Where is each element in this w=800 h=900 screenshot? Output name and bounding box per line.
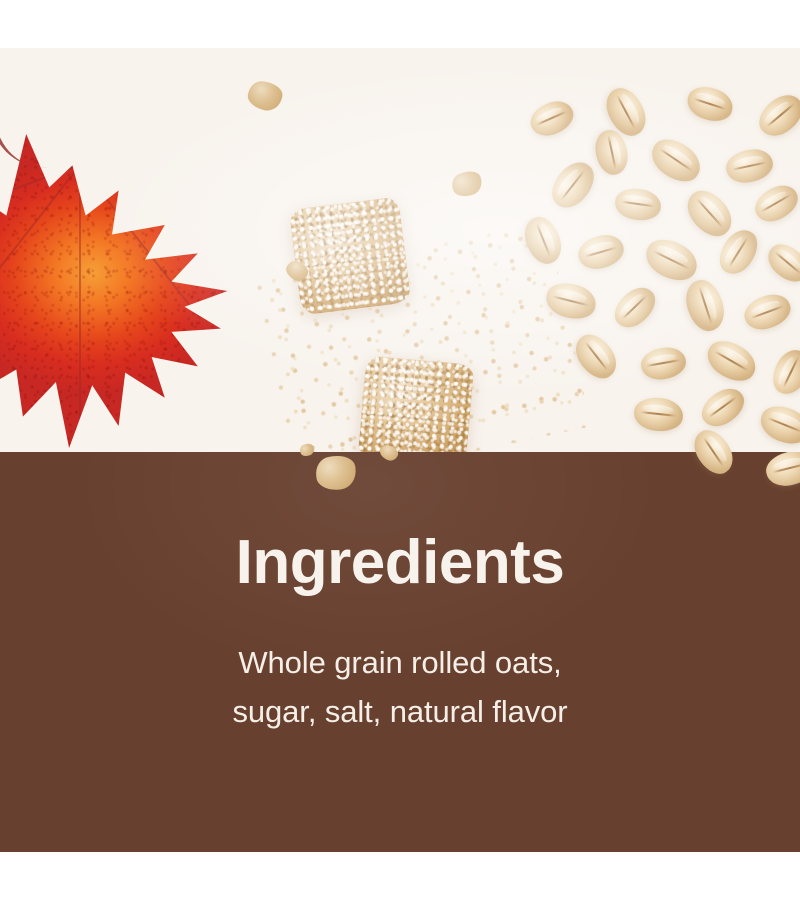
- oat-flake: [632, 396, 684, 434]
- oat-flake: [640, 232, 703, 288]
- oat-flake: [645, 131, 708, 189]
- oat-flake: [680, 275, 729, 335]
- maple-leaf-blade: [0, 134, 244, 448]
- sugar-crumb: [378, 452, 400, 463]
- oat-flake: [687, 452, 740, 480]
- oat-flake: [755, 400, 800, 450]
- ingredients-line-1: Whole grain rolled oats,: [0, 638, 800, 687]
- page-title: Ingredients: [0, 532, 800, 594]
- sugar-crumb: [298, 452, 315, 458]
- sugar-grain-texture: [289, 197, 411, 316]
- ingredients-panel: Ingredients Whole grain rolled oats, sug…: [0, 0, 800, 900]
- oat-flake: [683, 82, 737, 127]
- sugar-crumb: [245, 79, 284, 113]
- ingredients-list-text: Whole grain rolled oats, sugar, salt, na…: [0, 638, 800, 736]
- oat-flake: [763, 452, 800, 490]
- oat-flake: [526, 95, 579, 141]
- oat-flake: [749, 179, 800, 228]
- oat-flake: [687, 424, 740, 452]
- top-white-margin: [0, 0, 800, 48]
- oat-flake: [740, 289, 795, 335]
- oat-flake: [608, 280, 663, 334]
- brown-sugar-cube-2: [358, 355, 474, 452]
- maple-leaf-stem: [0, 79, 83, 171]
- oat-flake: [752, 87, 800, 143]
- oat-flake: [701, 334, 762, 389]
- ingredients-hero-photo: [0, 48, 800, 452]
- maple-leaf: [0, 76, 244, 448]
- oat-flake: [695, 381, 750, 433]
- bottom-white-margin: [0, 852, 800, 900]
- oat-flake: [762, 237, 800, 288]
- ingredients-line-2: sugar, salt, natural flavor: [0, 687, 800, 736]
- oat-flake: [544, 155, 602, 215]
- oat-flake: [723, 145, 776, 186]
- oat-flake: [574, 230, 627, 273]
- oat-flake: [613, 186, 663, 223]
- sugar-crumb: [449, 168, 485, 200]
- brown-sugar-cube-1: [289, 197, 411, 316]
- oat-flake: [767, 344, 800, 399]
- oat-flake: [639, 344, 689, 382]
- maple-leaf-vein: [79, 153, 81, 429]
- sugar-grain-texture: [358, 355, 474, 452]
- sugar-crumb: [314, 453, 358, 492]
